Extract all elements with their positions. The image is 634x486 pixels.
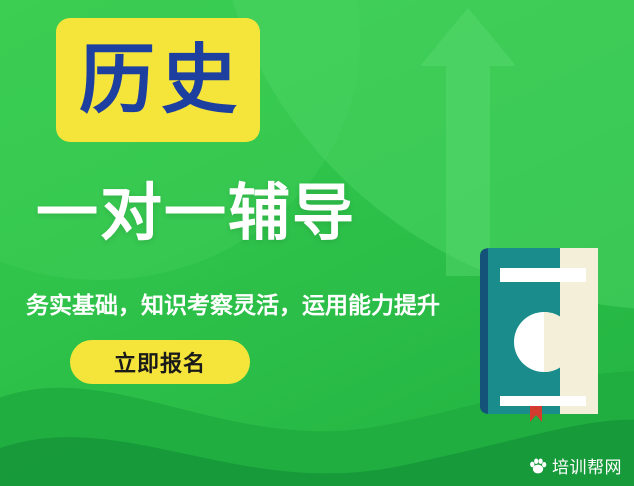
watermark-label: 培训帮网	[552, 453, 622, 478]
page-title: 一对一辅导	[36, 182, 356, 244]
watermark: 培训帮网	[528, 453, 622, 478]
subject-badge-label: 历史	[73, 42, 243, 118]
paw-icon	[528, 456, 548, 476]
up-arrow-icon	[420, 8, 516, 276]
enroll-button[interactable]: 立即报名	[70, 340, 250, 384]
enroll-button-label: 立即报名	[114, 346, 206, 378]
promo-poster: 历史 一对一辅导 务实基础，知识考察灵活，运用能力提升 立即报名	[0, 0, 634, 486]
subtitle-text: 务实基础，知识考察灵活，运用能力提升	[26, 286, 440, 320]
book-icon	[474, 246, 604, 422]
subject-badge: 历史	[56, 18, 260, 142]
